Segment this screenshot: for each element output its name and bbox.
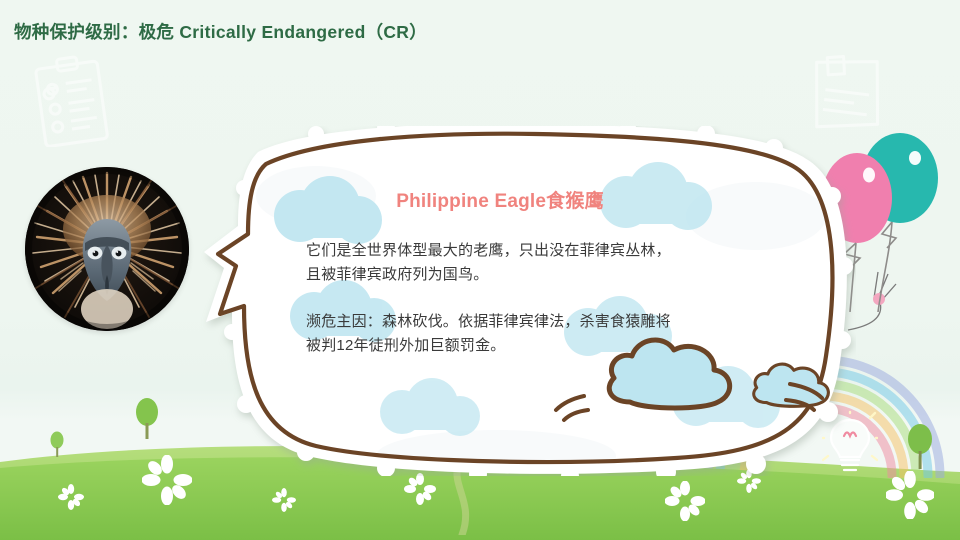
- card-heading: Philippine Eagle食猴鹰: [306, 186, 676, 213]
- flower-icon: [404, 473, 436, 510]
- flower-icon: [886, 471, 934, 524]
- flower-icon: [272, 488, 296, 517]
- page-title: 物种保护级别：极危 Critically Endangered（CR）: [14, 19, 427, 44]
- slide-canvas: Philippine Eagle食猴鹰 它们是全世界体型最大的老鹰，只出没在菲律…: [0, 0, 960, 540]
- speech-bubble: Philippine Eagle食猴鹰 它们是全世界体型最大的老鹰，只出没在菲律…: [196, 126, 856, 476]
- flower-icon: [58, 484, 84, 515]
- flower-icon: [665, 481, 705, 526]
- card-paragraph-1: 它们是全世界体型最大的老鹰，只出没在菲律宾丛林，且被菲律宾政府列为国鸟。: [306, 239, 676, 288]
- bubble-text-block: Philippine Eagle食猴鹰 它们是全世界体型最大的老鹰，只出没在菲律…: [306, 186, 676, 358]
- avatar: [25, 167, 189, 331]
- flower-icon: [142, 455, 192, 510]
- card-paragraph-2: 濒危主因：森林砍伐。依据菲律宾律法，杀害食猿雕将被判12年徒刑外加巨额罚金。: [306, 310, 676, 359]
- clipboard-icon: [22, 52, 132, 147]
- tree-icon: [134, 397, 160, 444]
